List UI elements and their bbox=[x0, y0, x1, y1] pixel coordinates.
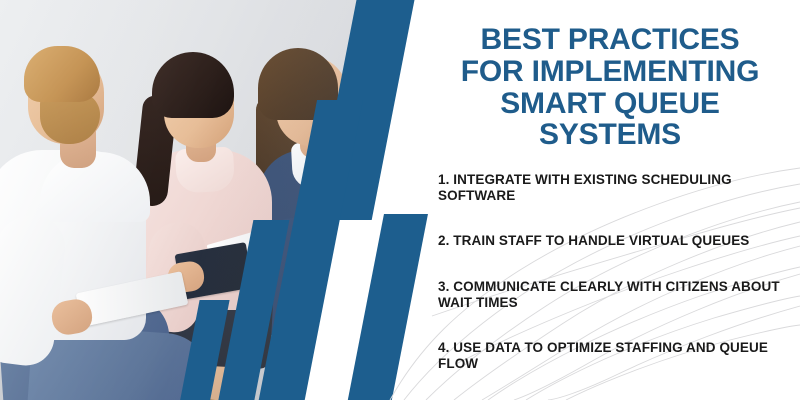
title-line-4: SYSTEMS bbox=[430, 119, 790, 151]
infographic-banner: BEST PRACTICES FOR IMPLEMENTING SMART QU… bbox=[0, 0, 800, 400]
list-item: 2. TRAIN STAFF TO HANDLE VIRTUAL QUEUES bbox=[438, 233, 800, 249]
best-practices-list: 1. INTEGRATE WITH EXISTING SCHEDULING SO… bbox=[438, 172, 800, 372]
title-line-2: FOR IMPLEMENTING bbox=[430, 56, 790, 88]
text-column: BEST PRACTICES FOR IMPLEMENTING SMART QU… bbox=[430, 0, 800, 400]
list-item: 4. USE DATA TO OPTIMIZE STAFFING AND QUE… bbox=[438, 340, 800, 372]
page-title: BEST PRACTICES FOR IMPLEMENTING SMART QU… bbox=[430, 24, 790, 151]
stripe-two bbox=[340, 214, 428, 400]
list-item: 1. INTEGRATE WITH EXISTING SCHEDULING SO… bbox=[438, 172, 800, 204]
title-line-3: SMART QUEUE bbox=[430, 88, 790, 120]
list-item: 3. COMMUNICATE CLEARLY WITH CITIZENS ABO… bbox=[438, 279, 800, 311]
title-line-1: BEST PRACTICES bbox=[430, 24, 790, 56]
